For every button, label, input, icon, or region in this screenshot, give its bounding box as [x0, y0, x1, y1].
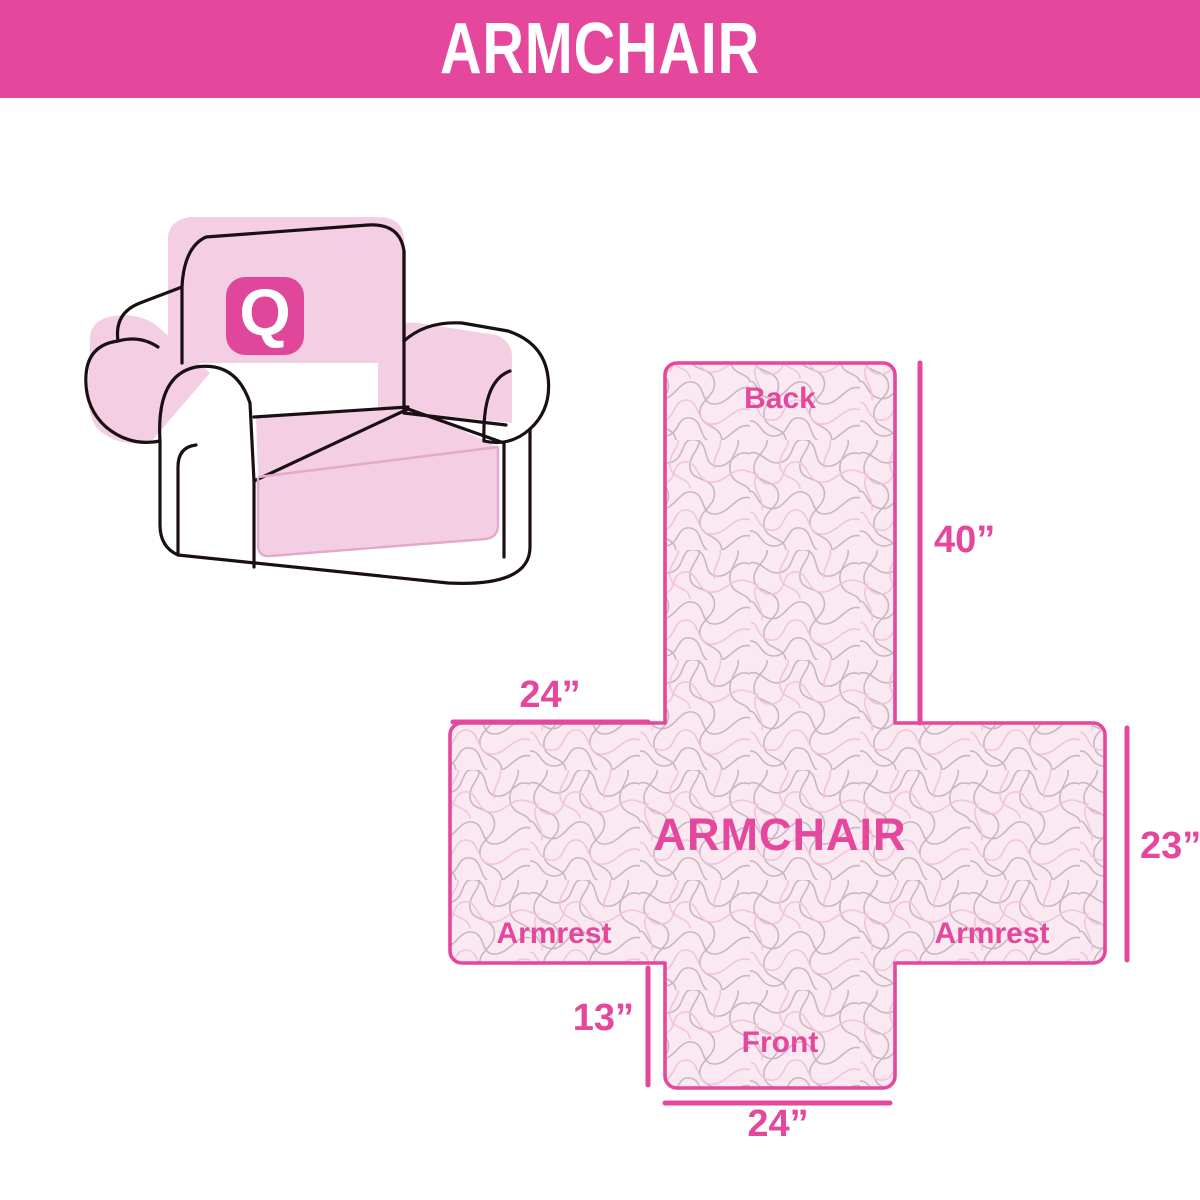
logo-letter-q: Q: [239, 275, 290, 349]
chair-base-left-inner: [178, 445, 196, 555]
dimension-label-body-height: 23”: [1140, 825, 1200, 867]
brand-logo-badge: Q: [226, 275, 304, 355]
cover-shape-diagram: Back ARMCHAIR Armrest Armrest Front 40” …: [420, 330, 1200, 1140]
dimension-label-back-height: 40”: [934, 519, 995, 561]
page-title: ARMCHAIR: [440, 13, 760, 85]
panel-label-armrest-right: Armrest: [934, 917, 1049, 950]
panel-label-armrest-left: Armrest: [496, 917, 611, 950]
dimension-label-front-width: 24”: [747, 1103, 808, 1140]
panel-label-back: Back: [744, 382, 816, 415]
product-label-armchair: ARMCHAIR: [654, 809, 907, 860]
page-root: ARMCHAIR: [0, 0, 1200, 1200]
dimension-label-front-height: 13”: [573, 997, 634, 1039]
dimension-label-armrest-left-width: 24”: [519, 674, 580, 716]
cover-cross-outline: [450, 363, 1105, 1088]
panel-label-front: Front: [742, 1026, 819, 1059]
header-banner: ARMCHAIR: [0, 0, 1200, 98]
